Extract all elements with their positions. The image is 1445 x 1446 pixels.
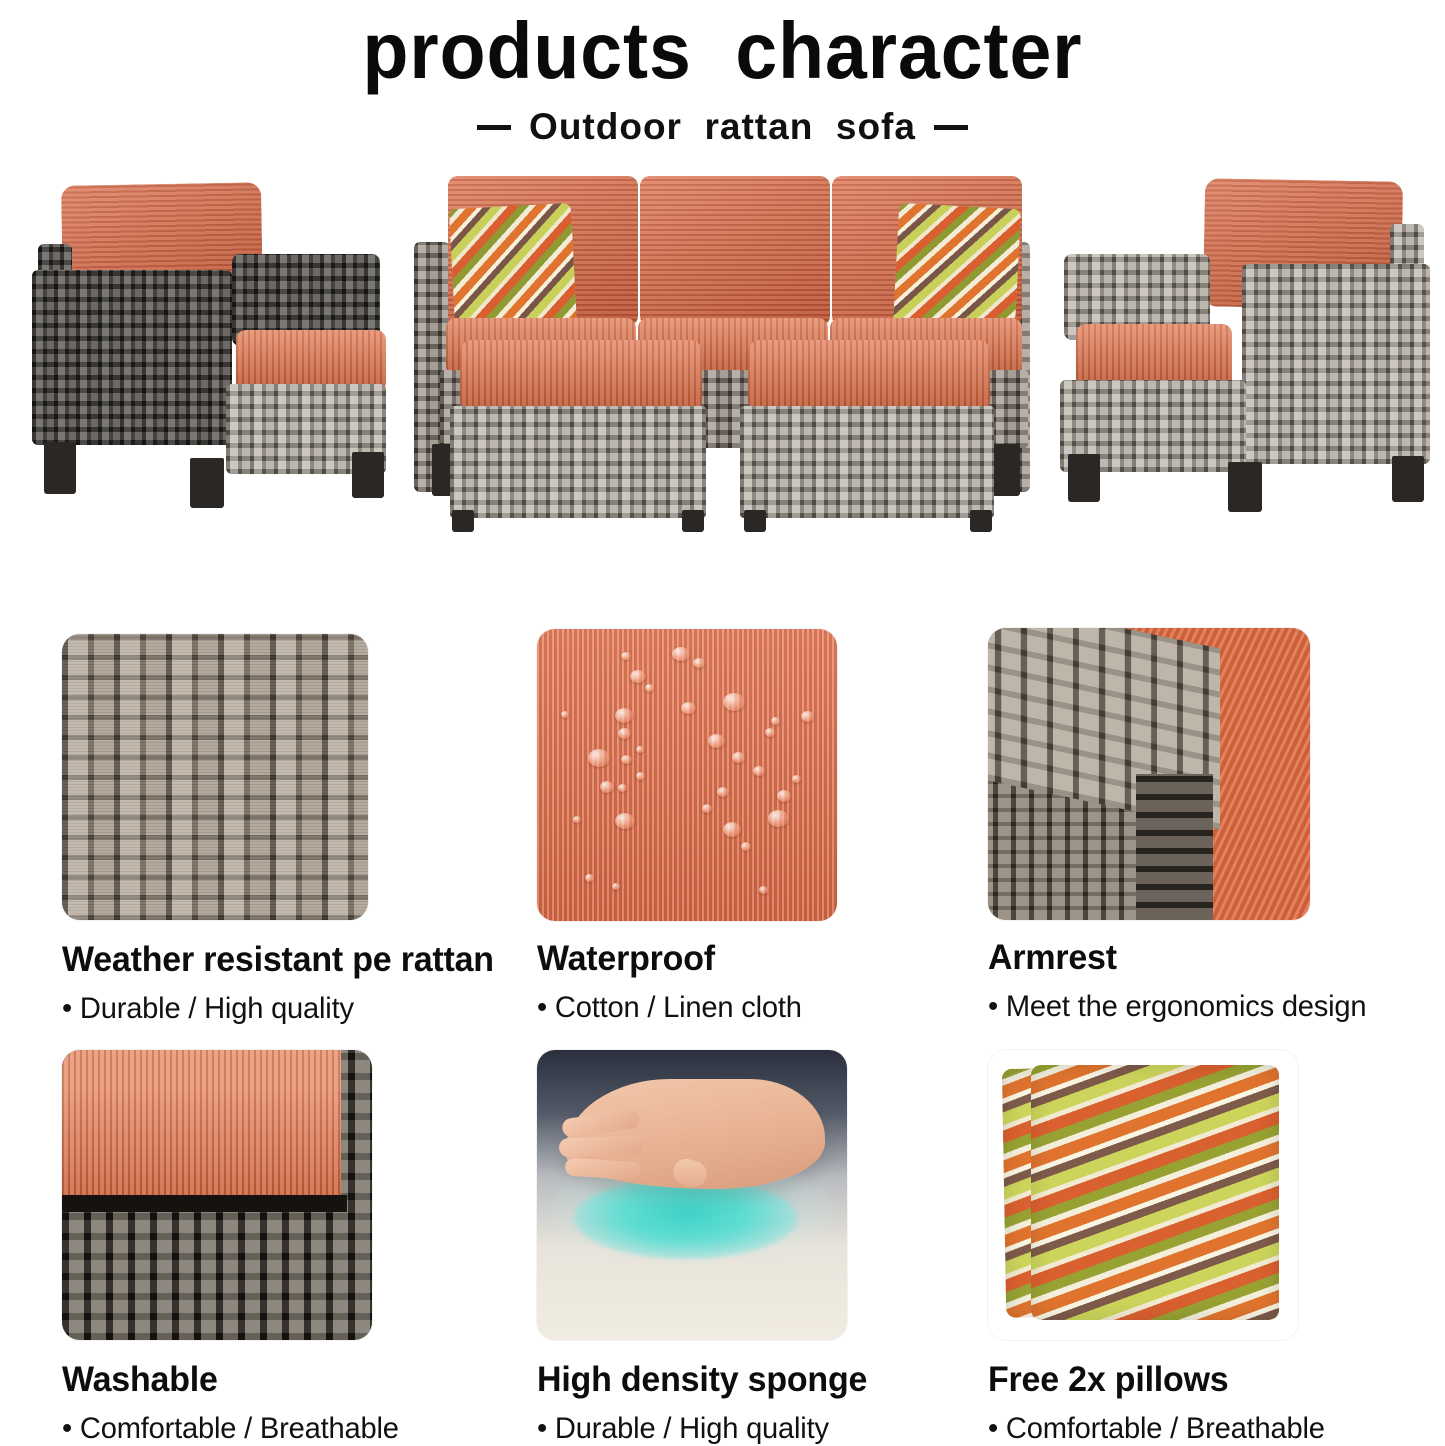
left-chair-side-arm (32, 270, 232, 445)
water-droplet (561, 711, 569, 718)
feature-title: Waterproof (537, 939, 944, 979)
water-droplet (636, 746, 644, 753)
orange-ribbed-fabric (537, 629, 837, 921)
sofa-throw-pillow-right (893, 203, 1021, 333)
ottoman-right-cushion (748, 340, 990, 412)
armrest-front-weave (1136, 774, 1213, 920)
water-droplet (600, 781, 614, 793)
feature-card-high-density-sponge: High density sponge • Durable / High qua… (537, 1050, 967, 1446)
page-subtitle: Outdoor rattan sofa (529, 106, 916, 148)
feature-bullet: • Cotton / Linen cloth (537, 991, 944, 1025)
water-droplet (708, 734, 725, 748)
ottoman-left-cushion (460, 340, 702, 412)
washable-cushion-image (62, 1050, 372, 1340)
feature-card-weather-resistant: Weather resistant pe rattan • Durable / … (62, 634, 492, 1026)
water-droplet (792, 775, 801, 783)
feature-bullet: • Comfortable / Breathable (988, 1412, 1405, 1446)
water-droplet (771, 717, 780, 725)
right-chair-side-arm (1242, 264, 1430, 464)
page-title: products character (43, 8, 1401, 94)
feature-title: Weather resistant pe rattan (62, 940, 479, 980)
water-droplet (588, 749, 610, 767)
feature-title: Armrest (988, 938, 1395, 978)
feature-title: Washable (62, 1360, 479, 1400)
left-chair-leg-mid (190, 458, 224, 508)
rattan-weave-texture (62, 634, 368, 920)
right-chair-leg-front (1068, 454, 1100, 502)
chevron-pillows-image (988, 1050, 1298, 1340)
water-droplet (681, 702, 696, 714)
sofa-back-cushion-2 (640, 176, 830, 326)
waterproof-fabric-image (537, 629, 837, 921)
water-droplet (573, 816, 581, 823)
feature-title: Free 2x pillows (988, 1360, 1405, 1400)
feature-card-waterproof: Waterproof • Cotton / Linen cloth (537, 629, 957, 1025)
feature-bullet: • Meet the ergonomics design (988, 990, 1395, 1024)
rattan-weave-texture-image (62, 634, 368, 920)
ottoman-left-leg-2 (682, 510, 704, 532)
ottoman-right-base (740, 406, 994, 518)
subtitle-row: Outdoor rattan sofa (0, 106, 1445, 148)
water-droplet (759, 886, 768, 894)
ottoman-right-leg-1 (744, 510, 766, 532)
water-droplet (717, 787, 729, 797)
memory-foam-image (537, 1050, 847, 1340)
feature-bullet: • Durable / High quality (62, 992, 479, 1026)
water-droplet (723, 822, 741, 837)
water-droplet (801, 711, 814, 722)
dash-left-icon (477, 125, 511, 130)
water-droplet (612, 883, 620, 890)
ottoman-left-leg-1 (452, 510, 474, 532)
sofa-leg-right (990, 444, 1020, 496)
left-chair-leg-front (44, 442, 76, 494)
header: products character Outdoor rattan sofa (0, 0, 1445, 148)
water-droplet (621, 755, 632, 764)
hero-product-image (0, 162, 1445, 562)
finger (558, 1136, 643, 1158)
right-chair-leg-back (1392, 456, 1424, 502)
cushion-shadow-line (62, 1195, 347, 1212)
right-chair-leg-mid (1228, 462, 1262, 512)
water-droplet (618, 784, 627, 792)
water-droplet (768, 810, 789, 827)
water-droplet (615, 708, 633, 723)
water-droplet (777, 790, 791, 802)
feature-card-armrest: Armrest • Meet the ergonomics design (988, 628, 1408, 1024)
water-droplet (732, 752, 745, 763)
pillow-front (1031, 1065, 1279, 1320)
water-droplet (630, 670, 646, 683)
ottoman-left-base (450, 406, 706, 518)
feature-title: High density sponge (537, 1360, 954, 1400)
feature-card-washable: Washable • Comfortable / Breathable (62, 1050, 492, 1446)
sofa-throw-pillow-left (449, 203, 577, 333)
water-droplet (672, 647, 690, 661)
feature-bullet: • Durable / High quality (537, 1412, 954, 1446)
orange-cushion-top (62, 1050, 341, 1207)
woven-armrest-image (988, 628, 1310, 920)
feature-bullet: • Comfortable / Breathable (62, 1412, 479, 1446)
feature-card-free-pillows: Free 2x pillows • Comfortable / Breathab… (988, 1050, 1418, 1446)
foam-imprint-teal (574, 1178, 797, 1259)
water-droplet (615, 813, 635, 829)
left-chair-seat-cushion (236, 330, 386, 392)
left-chair-leg-back (352, 452, 384, 498)
ottoman-right-leg-2 (970, 510, 992, 532)
dash-right-icon (934, 125, 968, 130)
